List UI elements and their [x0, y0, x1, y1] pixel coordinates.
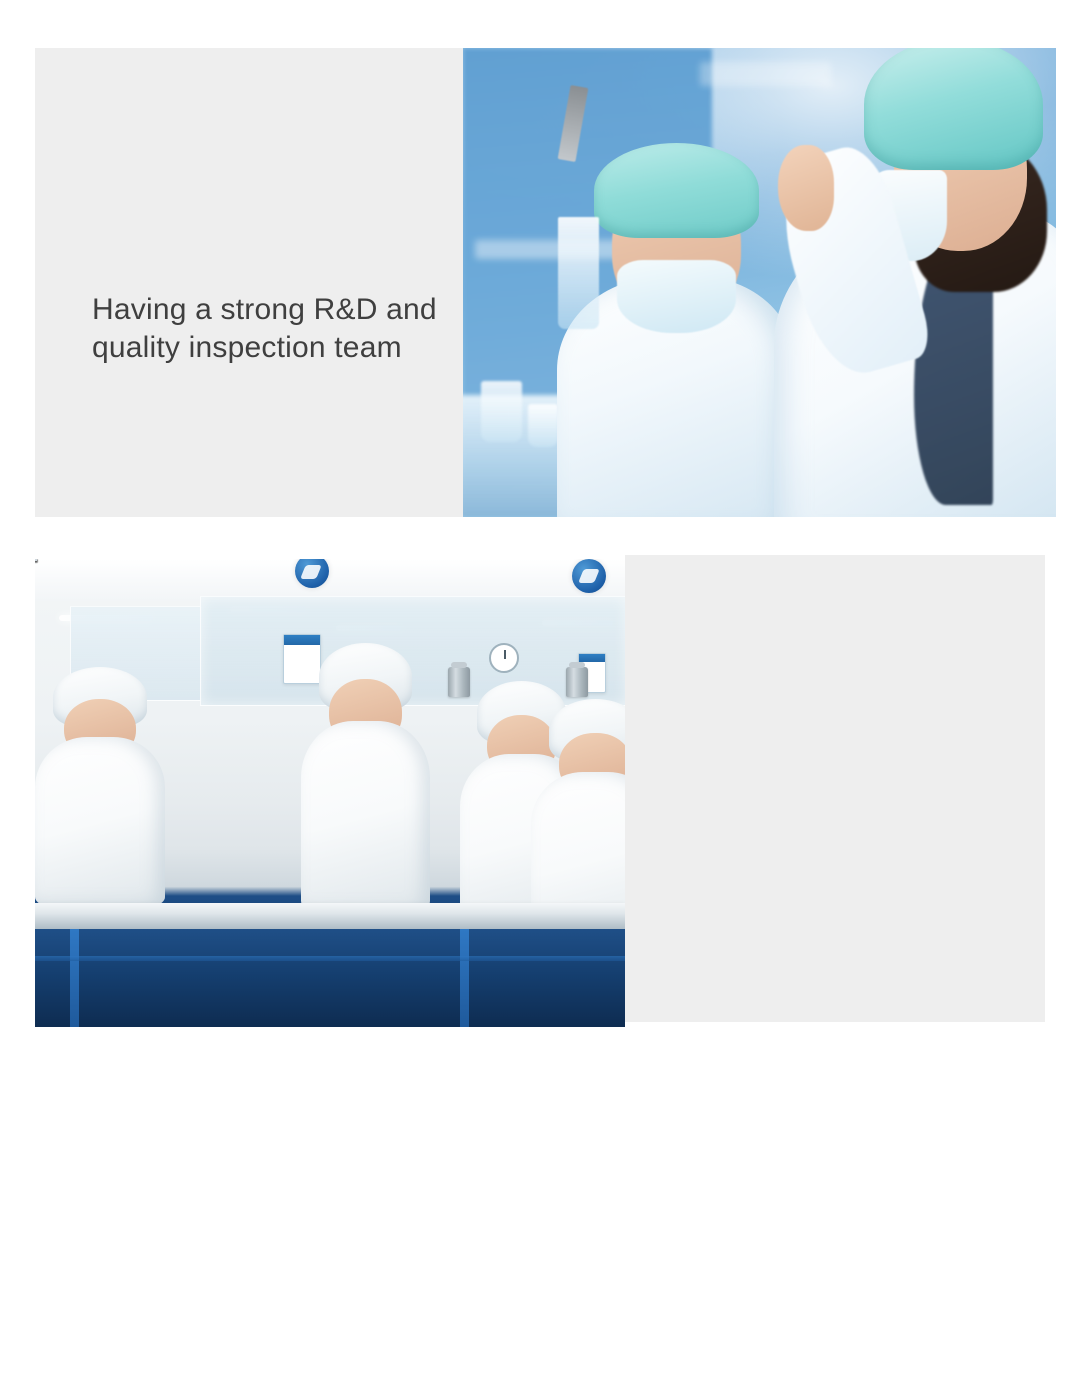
warehouse-text-panel: a warehouse distribution area a warehous…: [625, 555, 1045, 1022]
face-mask-icon: [617, 260, 737, 333]
research-quality-text-panel: Having a strong R&D and quality inspecti…: [35, 48, 463, 517]
table-leg: [70, 929, 79, 1027]
collage-canvas: Having a strong R&D and quality inspecti…: [0, 0, 1080, 1080]
research-quality-caption: Having a strong R&D and quality inspecti…: [92, 291, 437, 368]
company-logo-sign: [572, 559, 606, 593]
white-coat: [35, 737, 165, 905]
lab-technician-profile: [748, 48, 1056, 517]
packing-worker-1: [35, 671, 165, 905]
table-underside-shadow: [35, 929, 625, 1027]
stainless-steel-worktable: [35, 903, 625, 929]
beaker-icon: [481, 381, 523, 442]
gloved-hand: [778, 145, 834, 231]
white-coat: [301, 721, 431, 910]
table-crossbar: [35, 956, 625, 961]
surgical-cap-icon: [594, 143, 758, 238]
warehouse-packing-photo: [35, 559, 625, 1027]
quality-inspection-lab-photo: [463, 48, 1056, 517]
cleanroom-ceiling: [35, 559, 625, 601]
sample-vial-icon: [558, 217, 600, 330]
packing-worker-2: [301, 648, 431, 910]
surgical-cap-icon: [864, 48, 1043, 170]
table-leg: [460, 929, 469, 1027]
